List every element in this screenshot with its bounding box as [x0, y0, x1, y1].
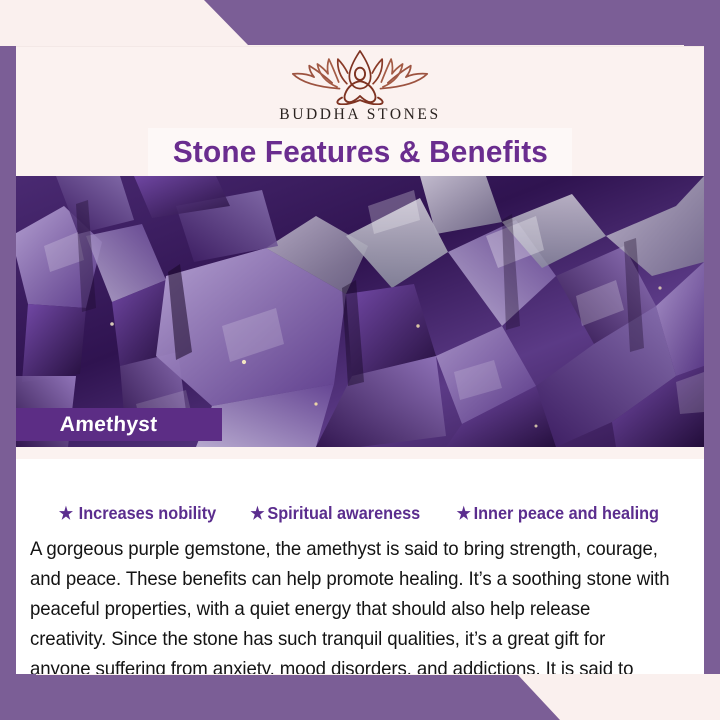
stone-description: A gorgeous purple gemstone, the amethyst…	[30, 535, 670, 674]
description-section: ★ Increases nobility ★ Spiritual awarene…	[16, 447, 704, 674]
brand-logo: BUDDHA STONES	[16, 46, 704, 124]
benefit-item: ★ Inner peace and healing	[457, 503, 659, 524]
benefit-label: Increases nobility	[79, 503, 216, 524]
frame-bottom-band	[0, 675, 720, 720]
benefit-label: Spiritual awareness	[268, 503, 421, 524]
frame-bottom-right-notch	[684, 674, 720, 720]
benefit-item: ★ Increases nobility	[59, 503, 216, 524]
stone-name-banner: Amethyst	[16, 408, 222, 441]
lotus-meditation-icon	[276, 46, 444, 105]
star-icon: ★	[457, 505, 471, 522]
content-card: BUDDHA STONES Stone Features & Benefits	[16, 46, 704, 674]
star-icon: ★	[251, 505, 265, 522]
poster-root: BUDDHA STONES Stone Features & Benefits	[0, 0, 720, 720]
brand-name: BUDDHA STONES	[279, 106, 440, 124]
title-banner: Stone Features & Benefits	[148, 128, 572, 176]
amethyst-photo	[16, 176, 704, 447]
benefit-label: Inner peace and healing	[474, 503, 659, 524]
frame-top-left-notch	[0, 0, 36, 46]
page-title: Stone Features & Benefits	[172, 134, 547, 170]
star-icon: ★	[59, 505, 73, 522]
benefit-item: ★ Spiritual awareness	[251, 503, 421, 524]
frame-top-band	[0, 0, 720, 45]
benefits-list: ★ Increases nobility ★ Spiritual awarene…	[16, 503, 704, 524]
amethyst-photo-art	[16, 176, 704, 447]
stone-name: Amethyst	[59, 413, 158, 437]
content-top-tint	[16, 447, 704, 459]
